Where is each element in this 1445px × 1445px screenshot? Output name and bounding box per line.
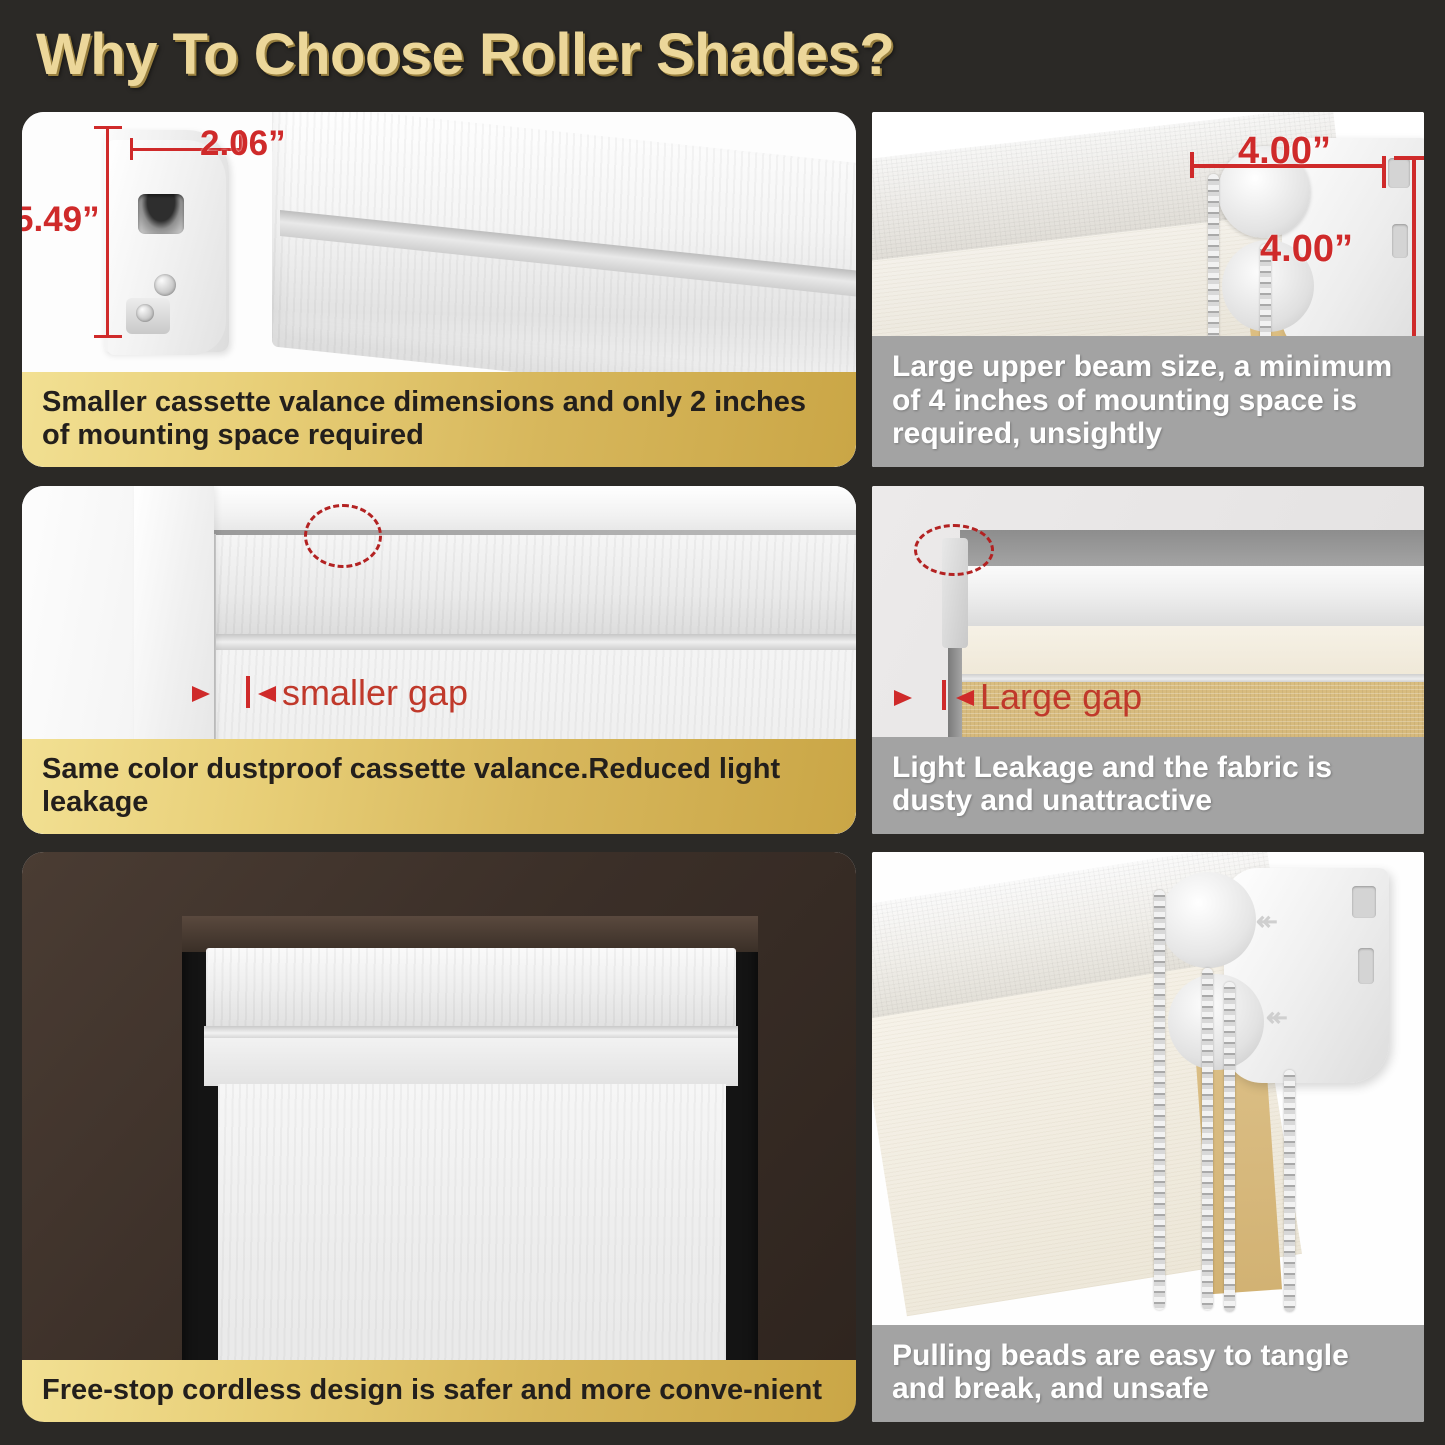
bead-chain [1284,1070,1295,1312]
dimension-tick [94,335,122,338]
width-dimension-label: 2.06” [200,124,286,164]
panel-caption: Same color dustproof cassette valance.Re… [22,739,856,834]
width-dimension-label: 4.00” [1238,130,1331,173]
gap-arrow-right-icon [192,686,210,702]
panel-bad-dimensions: 4.00” 4.00” Large upper beam size, a min… [872,112,1424,467]
gap-label: Large gap [980,676,1142,718]
bracket-emboss-icon: ↞ [1256,906,1278,937]
dimension-tick [1190,152,1194,178]
panel-caption: Light Leakage and the fabric is dusty an… [872,737,1424,834]
screw-icon [136,304,154,322]
bracket-hole-icon [1352,886,1376,918]
panel-caption: Free-stop cordless design is safer and m… [22,1360,856,1422]
dimension-tick [130,138,133,160]
bead-chain [1154,890,1165,1310]
gap-arrow-right-icon [894,690,912,706]
dimension-tick [94,126,122,129]
gap-arrow-left-icon [258,686,276,702]
roller-end-disc [1168,974,1264,1070]
gap-marker [246,676,250,708]
infographic-page: Why To Choose Roller Shades? 5.49” 2.06” [0,0,1445,1445]
bracket-hole-icon [1392,224,1408,258]
bracket-slot-icon [138,194,184,234]
bracket-hole-icon [1358,948,1374,984]
bracket-emboss-icon: ↞ [1266,1002,1288,1033]
dimension-line-vertical [1412,156,1416,348]
dimension-line-vertical [106,126,109,338]
panel-good-gap: smaller gap Same color dustproof cassett… [22,486,856,834]
panel-good-dimensions: 5.49” 2.06” Smaller cassette valance dim… [22,112,856,467]
roller-end-disc [1160,872,1256,968]
panel-caption: Pulling beads are easy to tangle and bre… [872,1325,1424,1422]
bead-chain [1224,982,1235,1312]
dimension-tick [1382,156,1386,188]
screw-icon [154,274,176,296]
header-bar: Why To Choose Roller Shades? [0,0,1445,108]
panel-good-cordless: Free-stop cordless design is safer and m… [22,852,856,1422]
panel-bad-gap: Large gap Light Leakage and the fabric i… [872,486,1424,834]
panel-caption: Large upper beam size, a minimum of 4 in… [872,336,1424,467]
bead-chain [1202,968,1213,1310]
panel-bad-beads: ↞ ↞ Pulling beads are easy to tangle and… [872,852,1424,1422]
page-title: Why To Choose Roller Shades? [36,21,894,88]
gap-arrow-left-icon [956,690,974,706]
height-dimension-label: 5.49” [22,200,100,240]
gap-label: smaller gap [282,672,468,714]
highlight-circle-icon [304,504,382,568]
panel-caption: Smaller cassette valance dimensions and … [22,372,856,467]
dimension-tick [1394,156,1424,160]
cordless-window-photo [22,852,856,1422]
gap-marker [942,680,946,710]
highlight-circle-icon [914,524,994,576]
height-dimension-label: 4.00” [1260,228,1353,271]
bracket-hole-icon [1388,158,1410,188]
